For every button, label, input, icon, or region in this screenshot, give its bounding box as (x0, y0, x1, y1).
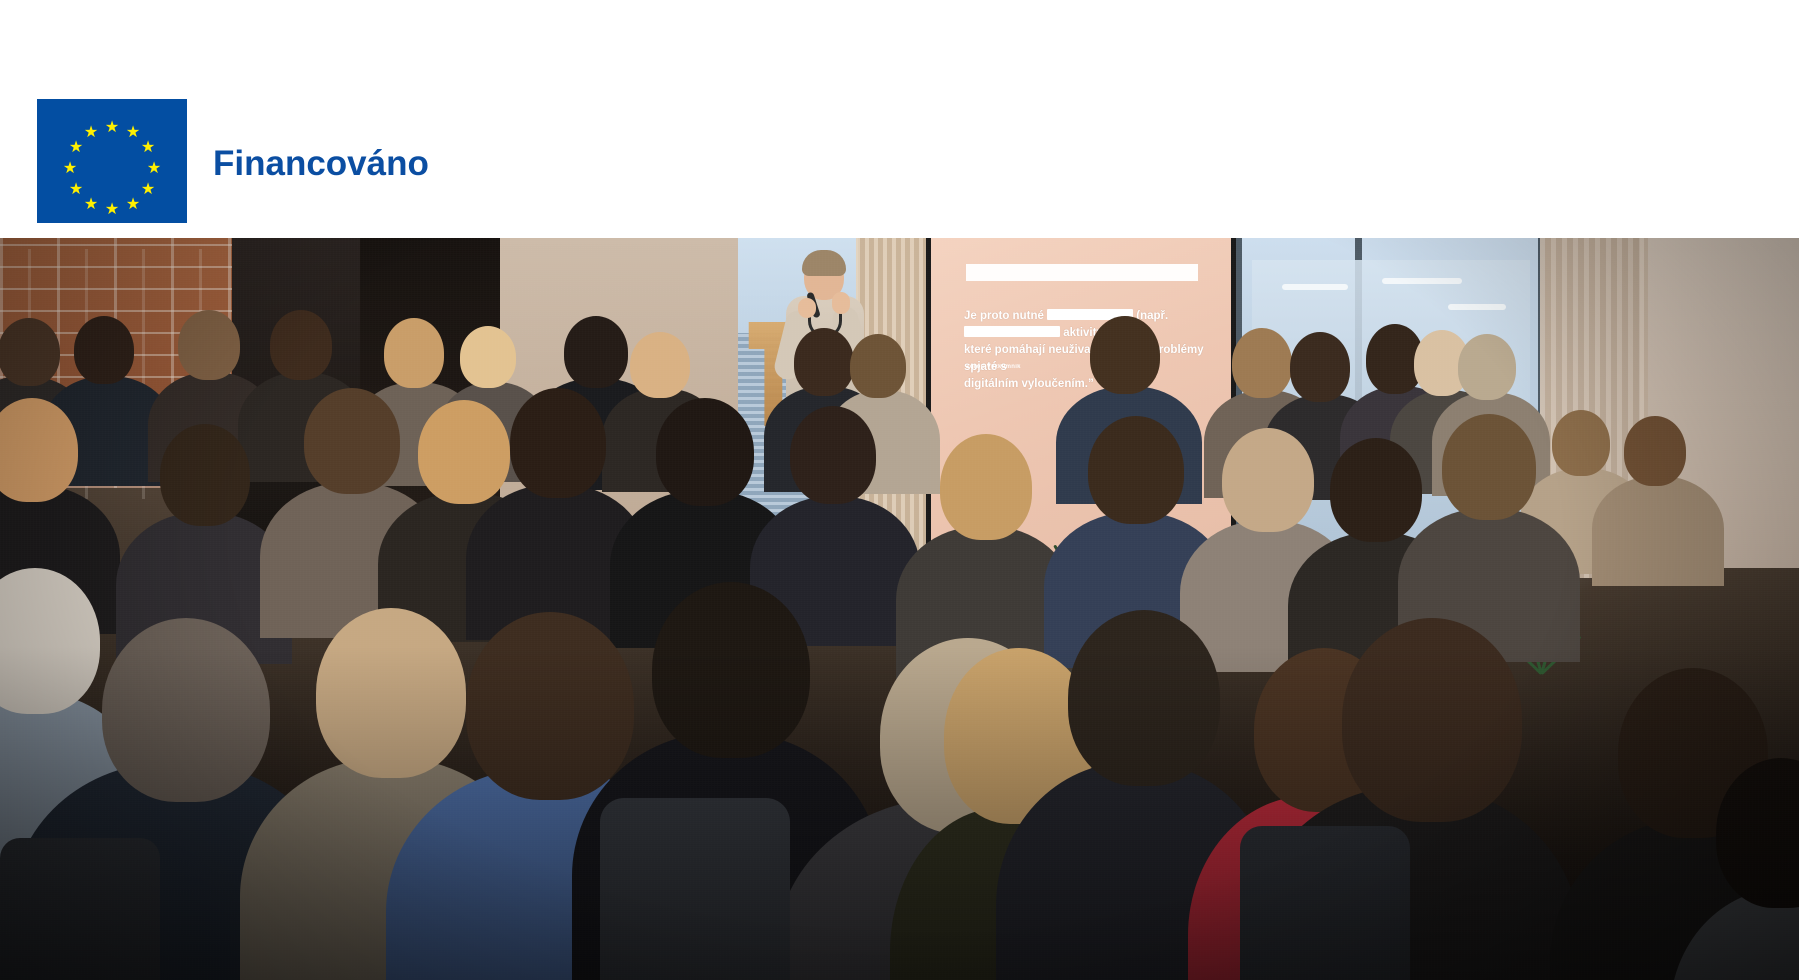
eu-funding-banner: ★ ★ ★ ★ ★ ★ ★ ★ ★ ★ ★ ★ Financováno Evro… (0, 0, 1799, 238)
eu-star-1: ★ (105, 120, 119, 136)
eu-star-11: ★ (69, 140, 83, 156)
eu-flag-stars: ★ ★ ★ ★ ★ ★ ★ ★ ★ ★ ★ ★ (37, 99, 187, 223)
eu-star-8: ★ (84, 197, 98, 213)
eu-star-5: ★ (141, 182, 155, 198)
page-root: ★ ★ ★ ★ ★ ★ ★ ★ ★ ★ ★ ★ Financováno Evro… (0, 0, 1799, 980)
eu-star-10: ★ (63, 161, 77, 177)
eu-star-9: ★ (69, 182, 83, 198)
eu-star-7: ★ (105, 202, 119, 218)
eu-funding-line-1: Financováno (213, 141, 466, 186)
audience-group (0, 238, 1799, 980)
eu-star-2: ★ (126, 125, 140, 141)
eu-star-3: ★ (141, 140, 155, 156)
eu-star-6: ★ (126, 197, 140, 213)
eu-flag-icon: ★ ★ ★ ★ ★ ★ ★ ★ ★ ★ ★ ★ (37, 99, 187, 223)
eu-star-4: ★ (147, 161, 161, 177)
eu-star-12: ★ (84, 125, 98, 141)
conference-photo: Je proto nutné (např. aktivity), které p… (0, 238, 1799, 980)
